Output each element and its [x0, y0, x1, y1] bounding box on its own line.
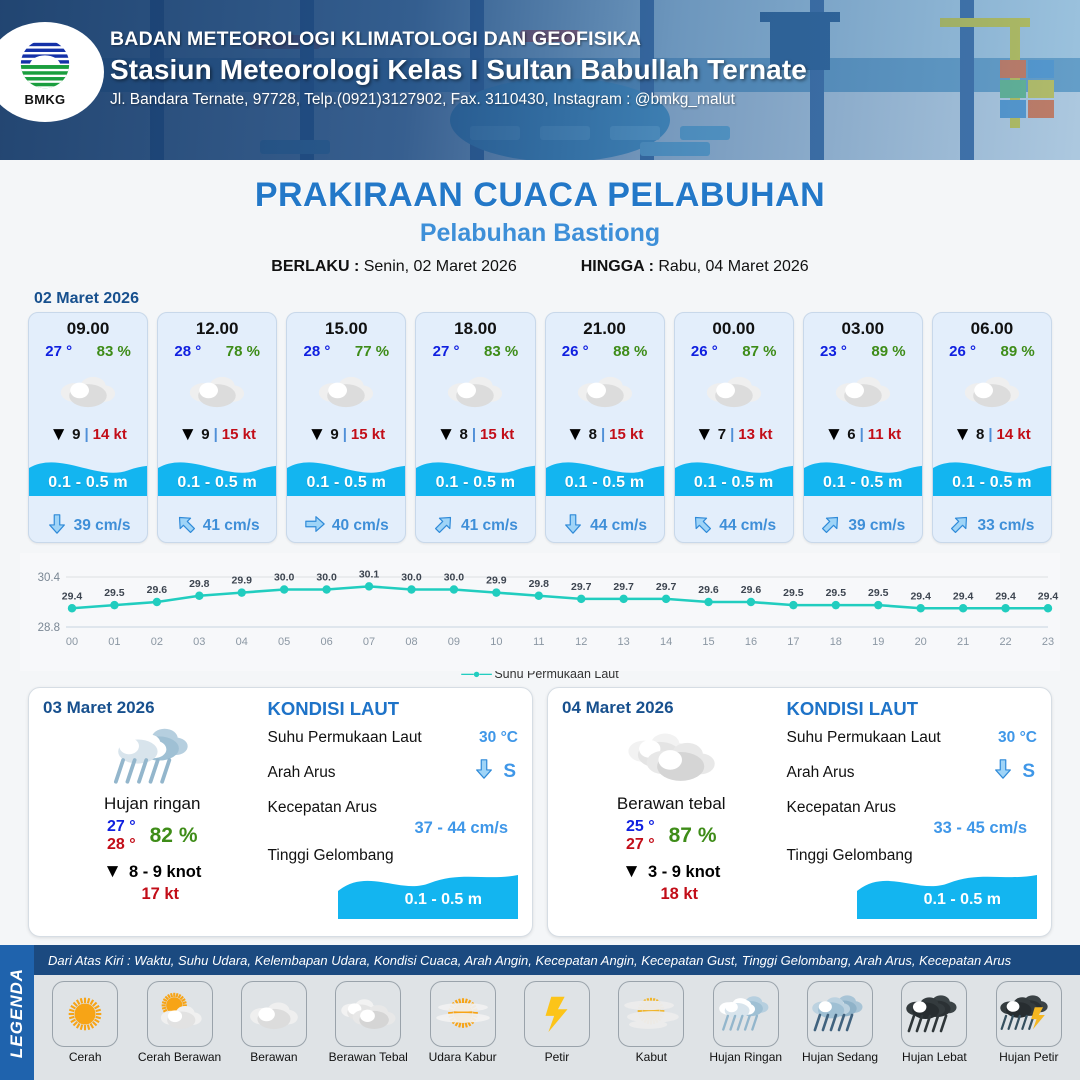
card-wave-height: 0.1 - 0.5 m	[158, 474, 276, 492]
current-direction-row: Arah Arus S	[268, 756, 519, 790]
svg-text:29.6: 29.6	[147, 584, 168, 596]
title-block: PRAKIRAAN CUACA PELABUHAN Pelabuhan Bast…	[0, 176, 1080, 276]
card-wind: ▼ 8 | 15 kt	[416, 418, 534, 450]
card-current-speed: 39 cm/s	[74, 517, 131, 535]
svg-text:07: 07	[363, 636, 375, 648]
daily-forecast-panel: 03 Maret 2026 Hujan ringan 27 ° 28 ° 82 …	[28, 687, 533, 937]
validity-row: BERLAKU : Senin, 02 Maret 2026 HINGGA : …	[0, 258, 1080, 276]
page-title: PRAKIRAAN CUACA PELABUHAN	[0, 176, 1080, 215]
legend-item-label: Kabut	[636, 1050, 667, 1064]
current-direction-value: S	[503, 761, 516, 783]
svg-text:05: 05	[278, 636, 290, 648]
wind-separator: |	[860, 426, 864, 443]
udara-kabur-icon	[430, 981, 496, 1047]
legend-sidebar-label: LEGENDA	[7, 967, 27, 1057]
daily-forecast-panel: 04 Maret 2026 Berawan tebal 25 ° 27 ° 87…	[547, 687, 1052, 937]
hujan-sedang-icon	[807, 981, 873, 1047]
hujan-petir-icon	[996, 981, 1062, 1047]
svg-text:01: 01	[108, 636, 120, 648]
svg-text:29.6: 29.6	[698, 584, 719, 596]
hourly-card: 18.00 27 ° 83 % ▼ 8 | 15 kt 0.1 - 0.5 m	[415, 312, 535, 543]
svg-text:16: 16	[745, 636, 757, 648]
svg-text:29.4: 29.4	[1038, 590, 1059, 602]
card-current: 39 cm/s	[804, 510, 922, 542]
svg-text:29.8: 29.8	[189, 578, 210, 590]
daily-wind: ▼ 8 - 9 knot	[43, 861, 262, 883]
card-temperature: 26 °	[562, 343, 589, 360]
svg-text:02: 02	[151, 636, 163, 648]
svg-text:09: 09	[448, 636, 460, 648]
wave-graphic: 0.1 - 0.5 m	[787, 863, 1038, 919]
hourly-forecast-row: 09.00 27 ° 83 % ▼ 9 | 14 kt 0.1 - 0.5 m	[0, 312, 1080, 543]
page-subtitle: Pelabuhan Bastiong	[0, 219, 1080, 248]
legend-item-label: Hujan Lebat	[902, 1050, 967, 1064]
card-current: 40 cm/s	[287, 510, 405, 542]
sst-label: Suhu Permukaan Laut	[787, 729, 941, 747]
card-gust: 15 kt	[351, 426, 385, 443]
card-humidity: 89 %	[1001, 343, 1035, 360]
svg-text:17: 17	[787, 636, 799, 648]
daily-humidity: 87 %	[669, 824, 717, 848]
card-wave: 0.1 - 0.5 m	[546, 448, 664, 510]
card-temperature: 26 °	[949, 343, 976, 360]
sst-value: 30 °C	[998, 729, 1037, 747]
card-time: 00.00	[675, 319, 793, 339]
wind-direction-icon: ▼	[49, 425, 68, 444]
daily-temp-min: 27 °	[107, 818, 136, 836]
legend-band: LEGENDA Dari Atas Kiri : Waktu, Suhu Uda…	[0, 945, 1080, 1080]
card-current: 39 cm/s	[29, 510, 147, 542]
card-wave-height: 0.1 - 0.5 m	[546, 474, 664, 492]
sst-value: 30 °C	[479, 729, 518, 747]
card-gust: 14 kt	[93, 426, 127, 443]
svg-text:15: 15	[702, 636, 714, 648]
svg-text:21: 21	[957, 636, 969, 648]
contact-info: Jl. Bandara Ternate, 97728, Telp.(0921)3…	[110, 91, 807, 109]
berawan-icon	[241, 981, 307, 1047]
svg-text:29.4: 29.4	[995, 590, 1016, 602]
svg-text:29.8: 29.8	[529, 578, 550, 590]
card-current: 41 cm/s	[158, 510, 276, 542]
card-temperature: 28 °	[174, 343, 201, 360]
current-direction-icon	[433, 513, 455, 540]
legend-item: Cerah Berawan	[134, 981, 224, 1064]
card-wave: 0.1 - 0.5 m	[675, 448, 793, 510]
svg-text:29.9: 29.9	[232, 575, 253, 587]
card-humidity: 83 %	[484, 343, 518, 360]
card-wind-degree: 8	[589, 426, 597, 443]
card-time: 03.00	[804, 319, 922, 339]
valid-from-value: Senin, 02 Maret 2026	[364, 258, 517, 275]
svg-text:11: 11	[533, 636, 544, 648]
current-direction-label: Arah Arus	[268, 764, 336, 782]
svg-text:29.5: 29.5	[826, 587, 847, 599]
legend-item-label: Hujan Petir	[999, 1050, 1058, 1064]
svg-text:29.9: 29.9	[486, 575, 507, 587]
svg-text:30.0: 30.0	[401, 572, 422, 584]
svg-text:29.5: 29.5	[868, 587, 889, 599]
card-wind: ▼ 9 | 14 kt	[29, 418, 147, 450]
cerah-icon	[52, 981, 118, 1047]
card-wind-degree: 8	[459, 426, 467, 443]
wind-separator: |	[730, 426, 734, 443]
valid-to-label: HINGGA :	[581, 258, 654, 275]
card-temperature: 27 °	[45, 343, 72, 360]
card-gust: 15 kt	[609, 426, 643, 443]
card-humidity: 87 %	[742, 343, 776, 360]
card-current-speed: 44 cm/s	[719, 517, 776, 535]
current-direction-icon	[46, 513, 68, 540]
wind-direction-icon: ▼	[695, 425, 714, 444]
card-current-speed: 40 cm/s	[332, 517, 389, 535]
current-direction-icon	[992, 758, 1014, 785]
sst-row: Suhu Permukaan Laut 30 °C	[787, 729, 1038, 747]
legend-item: Hujan Sedang	[795, 981, 885, 1064]
wind-direction-icon: ▼	[308, 425, 327, 444]
daily-condition: Hujan ringan	[43, 794, 262, 814]
card-gust: 11 kt	[868, 426, 901, 443]
svg-text:29.5: 29.5	[783, 587, 804, 599]
card-gust: 15 kt	[222, 426, 256, 443]
card-wave-height: 0.1 - 0.5 m	[933, 474, 1051, 492]
card-current-speed: 39 cm/s	[848, 517, 905, 535]
daily-temp-max: 27 °	[626, 836, 655, 854]
card-wind-degree: 9	[330, 426, 338, 443]
hourly-card: 09.00 27 ° 83 % ▼ 9 | 14 kt 0.1 - 0.5 m	[28, 312, 148, 543]
berawan-icon	[933, 362, 1051, 418]
svg-text:08: 08	[405, 636, 417, 648]
wind-separator: |	[84, 426, 88, 443]
station-name: Stasiun Meteorologi Kelas I Sultan Babul…	[110, 54, 807, 86]
legend-item: Hujan Ringan	[701, 981, 791, 1064]
current-direction-icon	[175, 513, 197, 540]
wind-separator: |	[214, 426, 218, 443]
valid-to-value: Rabu, 04 Maret 2026	[658, 258, 808, 275]
current-speed-label: Kecepatan Arus	[787, 799, 896, 817]
svg-text:22: 22	[999, 636, 1011, 648]
card-temperature: 23 °	[820, 343, 847, 360]
daily-forecast-row: 03 Maret 2026 Hujan ringan 27 ° 28 ° 82 …	[0, 681, 1080, 937]
legend-item: Petir	[512, 981, 602, 1064]
legend-item-label: Hujan Sedang	[802, 1050, 878, 1064]
wind-direction-icon: ▼	[953, 425, 972, 444]
daily-wind-speed: 3 - 9 knot	[648, 863, 720, 882]
daily-condition: Berawan tebal	[562, 794, 781, 814]
daily-wind: ▼ 3 - 9 knot	[562, 861, 781, 883]
card-current-speed: 41 cm/s	[203, 517, 260, 535]
sst-chart-svg: 30.428.829.40029.50129.60229.80329.90430…	[20, 553, 1060, 671]
hourly-card: 12.00 28 ° 78 % ▼ 9 | 15 kt 0.1 - 0.5 m	[157, 312, 277, 543]
card-wind-degree: 7	[718, 426, 726, 443]
sea-condition-title: KONDISI LAUT	[268, 698, 519, 720]
current-speed-value: 37 - 44 cm/s	[268, 819, 519, 838]
wind-direction-icon: ▼	[103, 861, 122, 883]
card-humidity: 88 %	[613, 343, 647, 360]
svg-text:13: 13	[618, 636, 630, 648]
svg-text:29.4: 29.4	[910, 590, 931, 602]
current-direction-row: Arah Arus S	[787, 756, 1038, 790]
wind-separator: |	[988, 426, 992, 443]
kabut-icon	[618, 981, 684, 1047]
card-wave: 0.1 - 0.5 m	[287, 448, 405, 510]
current-direction-icon	[820, 513, 842, 540]
wind-separator: |	[472, 426, 476, 443]
current-direction-icon	[691, 513, 713, 540]
svg-text:06: 06	[320, 636, 332, 648]
berawan-icon	[546, 362, 664, 418]
svg-text:29.5: 29.5	[104, 587, 125, 599]
card-time: 15.00	[287, 319, 405, 339]
svg-text:28.8: 28.8	[38, 622, 60, 634]
legend-item-label: Hujan Ringan	[709, 1050, 782, 1064]
card-wind: ▼ 6 | 11 kt	[804, 418, 922, 450]
legend-item-label: Berawan Tebal	[329, 1050, 408, 1064]
legend-item: Kabut	[606, 981, 696, 1064]
card-time: 12.00	[158, 319, 276, 339]
berawan-icon	[158, 362, 276, 418]
daily-gust: 18 kt	[578, 885, 781, 904]
current-speed-value: 33 - 45 cm/s	[787, 819, 1038, 838]
legend-item: Berawan	[229, 981, 319, 1064]
sea-condition-title: KONDISI LAUT	[787, 698, 1038, 720]
svg-text:29.7: 29.7	[613, 581, 634, 593]
daily-humidity: 82 %	[150, 824, 198, 848]
card-gust: 14 kt	[997, 426, 1031, 443]
current-direction-icon	[949, 513, 971, 540]
wind-direction-icon: ▼	[437, 425, 456, 444]
svg-text:29.4: 29.4	[62, 590, 83, 602]
legend-item-label: Petir	[545, 1050, 570, 1064]
wave-graphic: 0.1 - 0.5 m	[268, 863, 519, 919]
svg-text:29.4: 29.4	[953, 590, 974, 602]
card-time: 06.00	[933, 319, 1051, 339]
card-wind-degree: 8	[976, 426, 984, 443]
wave-height-value: 0.1 - 0.5 m	[924, 891, 1001, 909]
legend-item: Cerah	[40, 981, 130, 1064]
legend-item: Hujan Lebat	[889, 981, 979, 1064]
sst-label: Suhu Permukaan Laut	[268, 729, 422, 747]
hourly-date-label: 02 Maret 2026	[34, 290, 1080, 308]
daily-temp-min: 25 °	[626, 818, 655, 836]
svg-text:29.6: 29.6	[741, 584, 762, 596]
card-time: 21.00	[546, 319, 664, 339]
petir-icon	[524, 981, 590, 1047]
current-speed-row: Kecepatan Arus	[787, 799, 1038, 817]
card-current-speed: 44 cm/s	[590, 517, 647, 535]
current-direction-icon	[562, 513, 584, 540]
svg-text:18: 18	[830, 636, 842, 648]
card-gust: 15 kt	[480, 426, 514, 443]
card-wind-degree: 6	[847, 426, 855, 443]
card-current-speed: 41 cm/s	[461, 517, 518, 535]
hourly-card: 15.00 28 ° 77 % ▼ 9 | 15 kt 0.1 - 0.5 m	[286, 312, 406, 543]
card-gust: 13 kt	[738, 426, 772, 443]
hourly-card: 06.00 26 ° 89 % ▼ 8 | 14 kt 0.1 - 0.5 m	[932, 312, 1052, 543]
svg-text:12: 12	[575, 636, 587, 648]
legend-item: Berawan Tebal	[323, 981, 413, 1064]
card-temperature: 28 °	[304, 343, 331, 360]
svg-text:29.7: 29.7	[656, 581, 677, 593]
svg-text:30.4: 30.4	[38, 572, 61, 584]
berawan-tebal-icon	[335, 981, 401, 1047]
hujan-lebat-icon	[901, 981, 967, 1047]
card-wind: ▼ 8 | 15 kt	[546, 418, 664, 450]
card-temperature: 26 °	[691, 343, 718, 360]
current-direction-icon	[473, 758, 495, 785]
berawan-icon	[29, 362, 147, 418]
legend-note: Dari Atas Kiri : Waktu, Suhu Udara, Kele…	[34, 945, 1080, 975]
daily-temps: 27 ° 28 ° 82 %	[43, 818, 262, 854]
hourly-card: 00.00 26 ° 87 % ▼ 7 | 13 kt 0.1 - 0.5 m	[674, 312, 794, 543]
card-wind: ▼ 7 | 13 kt	[675, 418, 793, 450]
sst-row: Suhu Permukaan Laut 30 °C	[268, 729, 519, 747]
card-wind-degree: 9	[72, 426, 80, 443]
card-wave: 0.1 - 0.5 m	[29, 448, 147, 510]
legend-sidebar: LEGENDA	[0, 945, 34, 1080]
legend-item-label: Cerah	[69, 1050, 102, 1064]
cerah-berawan-icon	[147, 981, 213, 1047]
daily-date: 03 Maret 2026	[43, 698, 262, 718]
card-wind: ▼ 9 | 15 kt	[287, 418, 405, 450]
legend-item-label: Udara Kabur	[429, 1050, 497, 1064]
card-wind: ▼ 9 | 15 kt	[158, 418, 276, 450]
sst-chart: 30.428.829.40029.50129.60229.80329.90430…	[20, 553, 1060, 671]
svg-text:04: 04	[236, 636, 248, 648]
legend-item-label: Cerah Berawan	[138, 1050, 221, 1064]
card-humidity: 83 %	[97, 343, 131, 360]
svg-text:20: 20	[915, 636, 927, 648]
daily-wind-speed: 8 - 9 knot	[129, 863, 201, 882]
wind-direction-icon: ▼	[178, 425, 197, 444]
svg-text:19: 19	[872, 636, 884, 648]
svg-text:29.7: 29.7	[571, 581, 592, 593]
daily-date: 04 Maret 2026	[562, 698, 781, 718]
svg-text:14: 14	[660, 636, 672, 648]
card-humidity: 77 %	[355, 343, 389, 360]
svg-text:30.0: 30.0	[274, 572, 295, 584]
card-current: 41 cm/s	[416, 510, 534, 542]
daily-left: 03 Maret 2026 Hujan ringan 27 ° 28 ° 82 …	[43, 698, 262, 924]
legend-item: Udara Kabur	[417, 981, 507, 1064]
current-direction-label: Arah Arus	[787, 764, 855, 782]
card-wave-height: 0.1 - 0.5 m	[675, 474, 793, 492]
wind-direction-icon: ▼	[566, 425, 585, 444]
agency-name: BADAN METEOROLOGI KLIMATOLOGI DAN GEOFIS…	[110, 28, 807, 51]
card-wave-height: 0.1 - 0.5 m	[416, 474, 534, 492]
card-wave-height: 0.1 - 0.5 m	[804, 474, 922, 492]
daily-temps: 25 ° 27 ° 87 %	[562, 818, 781, 854]
daily-left: 04 Maret 2026 Berawan tebal 25 ° 27 ° 87…	[562, 698, 781, 924]
card-wind: ▼ 8 | 14 kt	[933, 418, 1051, 450]
card-humidity: 89 %	[871, 343, 905, 360]
card-current: 44 cm/s	[546, 510, 664, 542]
legend-item: Hujan Petir	[984, 981, 1074, 1064]
valid-from: BERLAKU : Senin, 02 Maret 2026	[271, 258, 516, 276]
berawan-icon	[804, 362, 922, 418]
svg-text:30.1: 30.1	[359, 568, 380, 580]
card-wave: 0.1 - 0.5 m	[158, 448, 276, 510]
card-wave-height: 0.1 - 0.5 m	[287, 474, 405, 492]
card-temperature: 27 °	[433, 343, 460, 360]
wave-height-value: 0.1 - 0.5 m	[405, 891, 482, 909]
hujan-ringan-icon	[713, 981, 779, 1047]
card-time: 09.00	[29, 319, 147, 339]
svg-text:30.0: 30.0	[316, 572, 337, 584]
header-text-block: BADAN METEOROLOGI KLIMATOLOGI DAN GEOFIS…	[110, 28, 807, 109]
card-current-speed: 33 cm/s	[977, 517, 1034, 535]
valid-from-label: BERLAKU :	[271, 258, 359, 275]
current-direction-value: S	[1022, 761, 1035, 783]
page-header: BMKG BADAN METEOROLOGI KLIMATOLOGI DAN G…	[0, 0, 1080, 160]
svg-text:03: 03	[193, 636, 205, 648]
berawan-icon	[675, 362, 793, 418]
current-direction-icon	[304, 513, 326, 540]
berawan-icon	[287, 362, 405, 418]
svg-text:30.0: 30.0	[444, 572, 465, 584]
svg-text:10: 10	[490, 636, 502, 648]
card-wave: 0.1 - 0.5 m	[804, 448, 922, 510]
card-wave-height: 0.1 - 0.5 m	[29, 474, 147, 492]
card-wave: 0.1 - 0.5 m	[933, 448, 1051, 510]
hourly-card: 21.00 26 ° 88 % ▼ 8 | 15 kt 0.1 - 0.5 m	[545, 312, 665, 543]
berawan-tebal-icon	[562, 722, 781, 792]
berawan-icon	[416, 362, 534, 418]
card-wind-degree: 9	[201, 426, 209, 443]
wind-direction-icon: ▼	[622, 861, 641, 883]
current-speed-label: Kecepatan Arus	[268, 799, 377, 817]
hujan-ringan-icon	[43, 722, 262, 792]
daily-gust: 17 kt	[59, 885, 262, 904]
sea-condition-block: KONDISI LAUT Suhu Permukaan Laut 30 °C A…	[262, 698, 519, 924]
card-current: 33 cm/s	[933, 510, 1051, 542]
bmkg-logo-mark	[16, 37, 74, 95]
svg-text:23: 23	[1042, 636, 1054, 648]
wind-direction-icon: ▼	[824, 425, 843, 444]
legend-item-label: Berawan	[250, 1050, 297, 1064]
sea-condition-block: KONDISI LAUT Suhu Permukaan Laut 30 °C A…	[781, 698, 1038, 924]
daily-temp-max: 28 °	[107, 836, 136, 854]
card-current: 44 cm/s	[675, 510, 793, 542]
current-speed-row: Kecepatan Arus	[268, 799, 519, 817]
svg-text:00: 00	[66, 636, 78, 648]
card-humidity: 78 %	[226, 343, 260, 360]
card-time: 18.00	[416, 319, 534, 339]
card-wave: 0.1 - 0.5 m	[416, 448, 534, 510]
wind-separator: |	[343, 426, 347, 443]
hourly-card: 03.00 23 ° 89 % ▼ 6 | 11 kt 0.1 - 0.5 m	[803, 312, 923, 543]
legend-items-row: Cerah Cerah Berawan Berawan Berawan Teba…	[34, 975, 1080, 1080]
valid-to: HINGGA : Rabu, 04 Maret 2026	[581, 258, 809, 276]
wind-separator: |	[601, 426, 605, 443]
